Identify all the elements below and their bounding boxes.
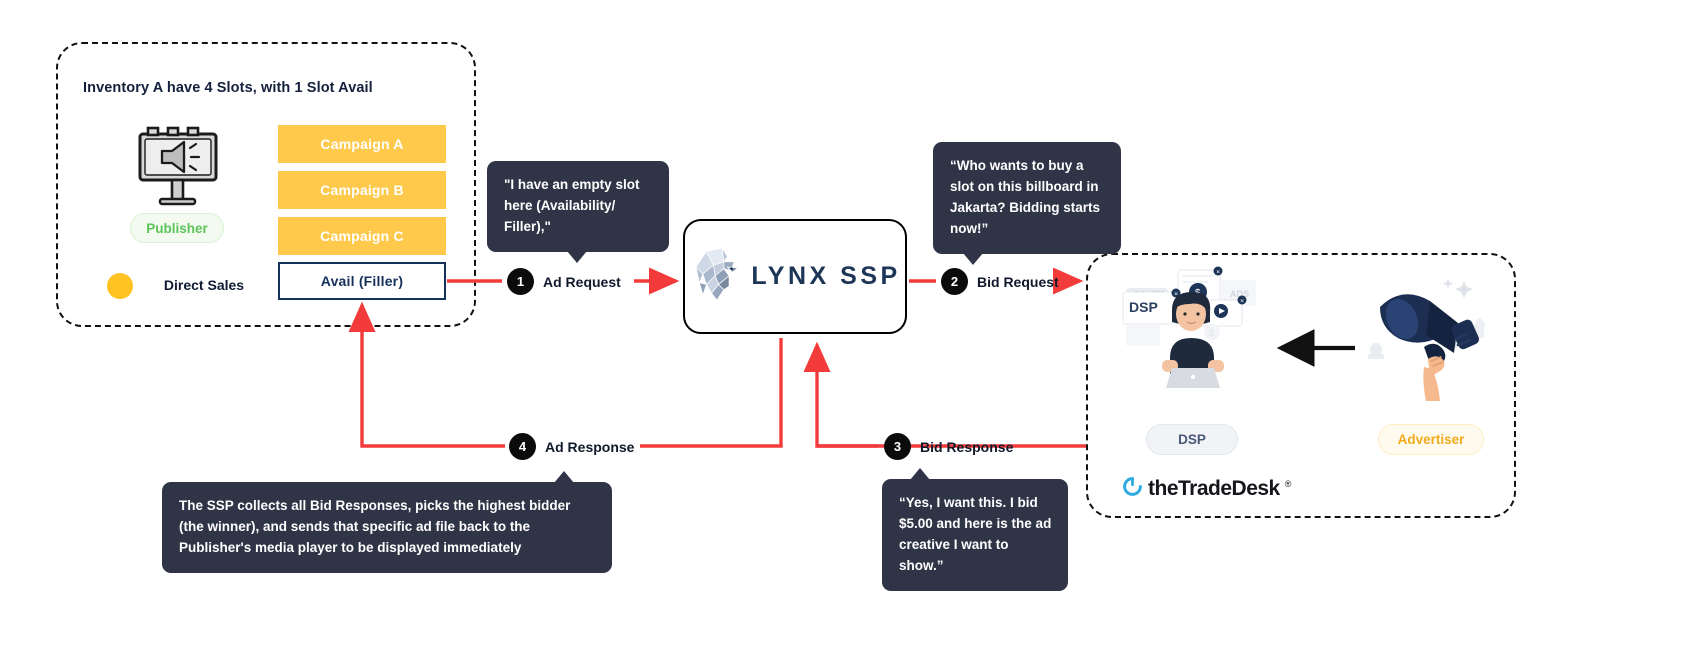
step-marker-bid-request: 2 Bid Request: [941, 268, 1059, 295]
inventory-slot-campaign-a[interactable]: Campaign A: [278, 125, 446, 163]
step-label: Bid Response: [920, 439, 1013, 455]
bubble-tail: [963, 253, 983, 265]
step-label: Ad Response: [545, 439, 634, 455]
advertiser-pill-label: Advertiser: [1398, 432, 1465, 447]
dsp-pill-label: DSP: [1178, 432, 1206, 447]
speech-bubble-ad-response: The SSP collects all Bid Responses, pick…: [162, 482, 612, 573]
speech-bubble-ad-request: "I have an empty slot here (Availability…: [487, 161, 669, 252]
slot-label: Avail (Filler): [321, 273, 403, 289]
step-marker-bid-response: 3 Bid Response: [884, 433, 1013, 460]
inventory-slot-avail-filler[interactable]: Avail (Filler): [278, 262, 446, 300]
bubble-text: The SSP collects all Bid Responses, pick…: [179, 498, 570, 555]
inventory-slot-campaign-c[interactable]: Campaign C: [278, 217, 446, 255]
slot-label: Campaign A: [320, 136, 403, 152]
lynx-wolf-head-logo-icon: [689, 244, 743, 309]
inventory-title: Inventory A have 4 Slots, with 1 Slot Av…: [83, 80, 373, 96]
dsp-person-illustration-icon: CLICK HERE $ ✕ ADS DSP ✕ ✕ $: [1122, 262, 1272, 392]
bubble-tail: [567, 251, 587, 263]
inventory-slot-campaign-b[interactable]: Campaign B: [278, 171, 446, 209]
slot-label: Campaign C: [320, 228, 404, 244]
bubble-tail: [910, 468, 930, 480]
tradedesk-logo: theTradeDesk ®: [1122, 476, 1291, 502]
advertiser-megaphone-illustration-icon: [1358, 265, 1513, 405]
step-label: Ad Request: [543, 274, 621, 290]
step-marker-ad-request: 1 Ad Request: [507, 268, 621, 295]
bubble-text: “Yes, I want this. I bid $5.00 and here …: [899, 495, 1051, 573]
speech-bubble-bid-response: “Yes, I want this. I bid $5.00 and here …: [882, 479, 1068, 591]
publisher-badge-label: Publisher: [146, 221, 208, 236]
step-number: 4: [509, 433, 536, 460]
bubble-text: "I have an empty slot here (Availability…: [504, 177, 639, 234]
step-number: 2: [941, 268, 968, 295]
slot-label: Campaign B: [320, 182, 404, 198]
step-marker-ad-response: 4 Ad Response: [509, 433, 634, 460]
billboard-icon: [132, 126, 224, 208]
svg-text:$: $: [1209, 328, 1214, 338]
direct-sales-legend-label: Direct Sales: [124, 277, 284, 293]
publisher-badge: Publisher: [130, 213, 224, 243]
svg-text:✕: ✕: [1216, 270, 1220, 276]
advertiser-pill-badge: Advertiser: [1378, 424, 1484, 455]
tradedesk-wordmark: theTradeDesk: [1148, 477, 1280, 501]
svg-text:✕: ✕: [1240, 299, 1244, 305]
diagram-canvas: Inventory A have 4 Slots, with 1 Slot Av…: [0, 0, 1697, 651]
step-label: Bid Request: [977, 274, 1059, 290]
step-number: 3: [884, 433, 911, 460]
speech-bubble-bid-request: “Who wants to buy a slot on this billboa…: [933, 142, 1121, 254]
lynx-ssp-node[interactable]: LYNX SSP: [683, 219, 907, 334]
tradedesk-mark-icon: [1122, 476, 1143, 502]
lynx-ssp-title: LYNX SSP: [751, 262, 900, 291]
svg-text:DSP: DSP: [1129, 299, 1158, 315]
bubble-text: “Who wants to buy a slot on this billboa…: [950, 158, 1100, 236]
tradedesk-trademark: ®: [1285, 479, 1292, 489]
dsp-pill-badge: DSP: [1146, 424, 1238, 455]
bubble-tail: [554, 471, 574, 483]
step-number: 1: [507, 268, 534, 295]
